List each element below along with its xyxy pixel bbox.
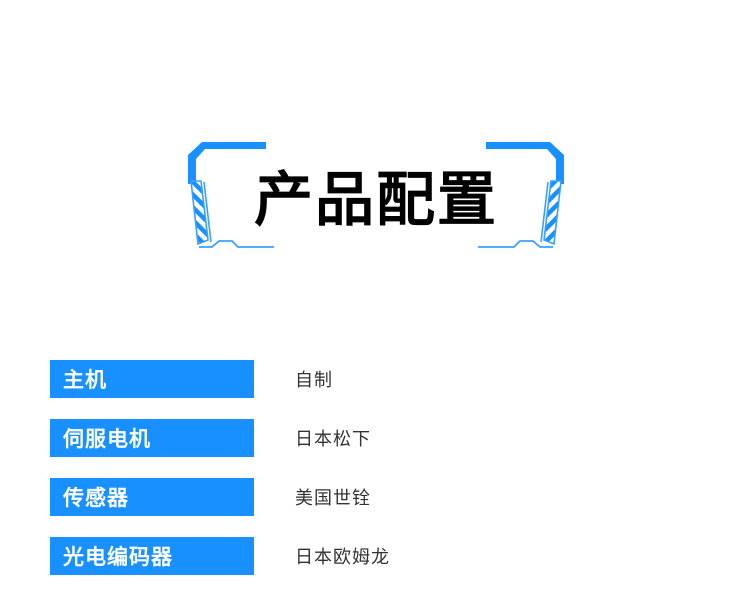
page-title: 产品配置	[186, 140, 566, 265]
spec-value: 日本松下	[295, 419, 371, 457]
spec-label: 光电编码器	[50, 537, 254, 575]
spec-list: 主机 自制 伺服电机 日本松下 传感器 美国世铨 光电编码器 日本欧姆龙	[0, 360, 750, 596]
spec-row: 主机 自制	[0, 360, 750, 398]
spec-value: 日本欧姆龙	[295, 537, 390, 575]
spec-label: 主机	[50, 360, 254, 398]
spec-value: 美国世铨	[295, 478, 371, 516]
title-banner: 产品配置	[186, 140, 566, 265]
spec-row: 伺服电机 日本松下	[0, 419, 750, 457]
spec-label: 传感器	[50, 478, 254, 516]
spec-row: 传感器 美国世铨	[0, 478, 750, 516]
spec-label: 伺服电机	[50, 419, 254, 457]
spec-value: 自制	[295, 360, 333, 398]
spec-row: 光电编码器 日本欧姆龙	[0, 537, 750, 575]
